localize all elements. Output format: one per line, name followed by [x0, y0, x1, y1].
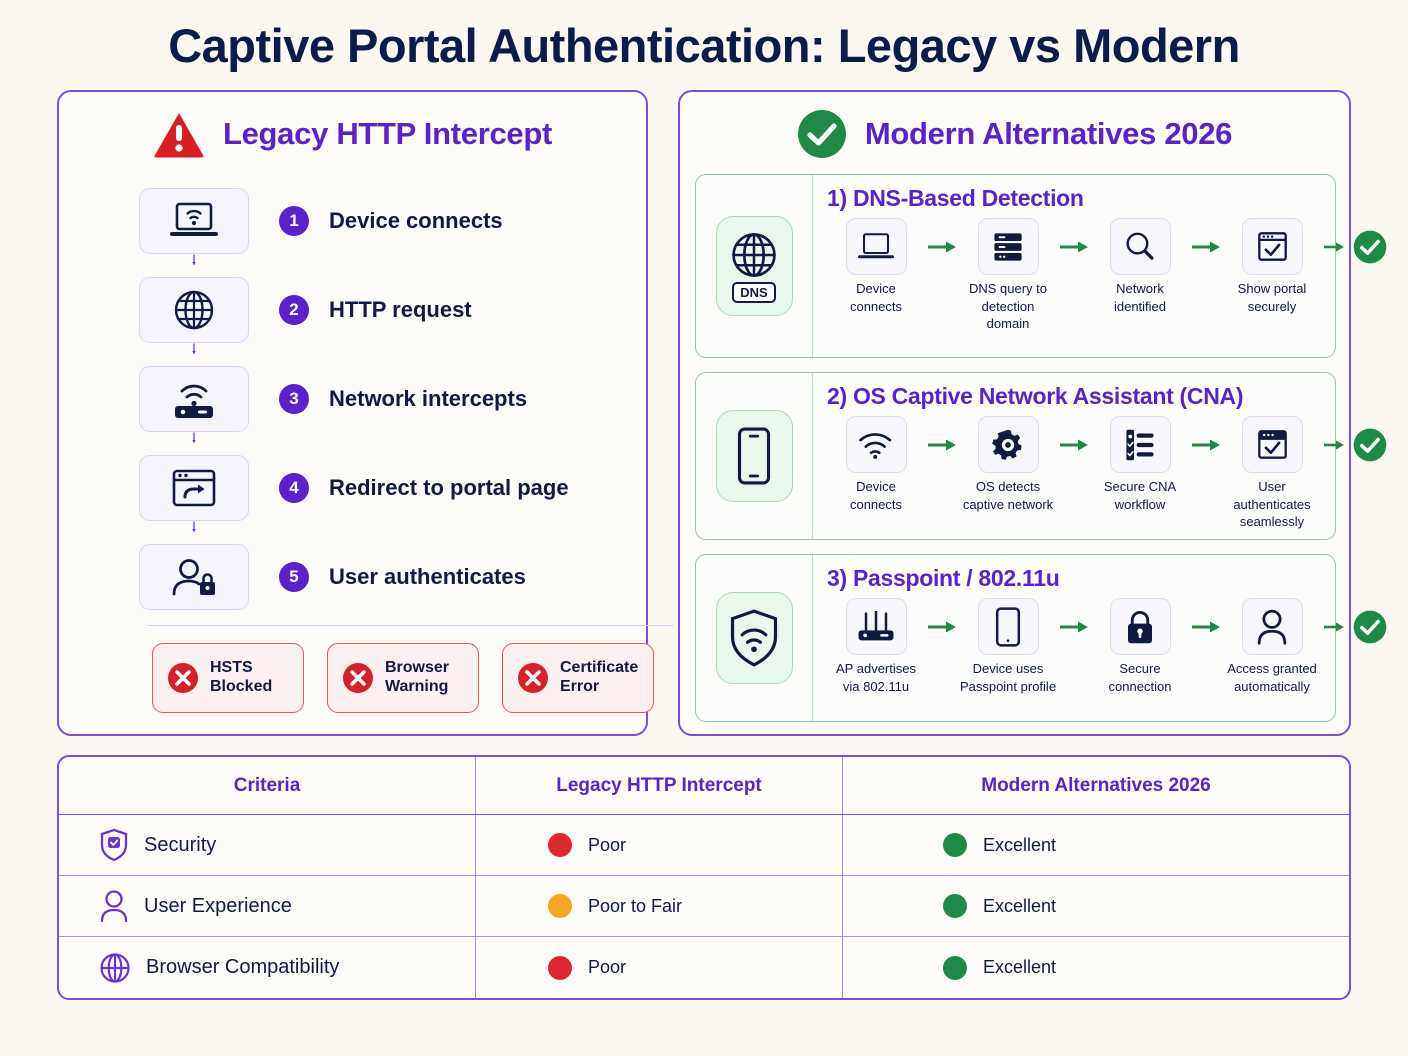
flow-icon-box: [978, 218, 1039, 275]
criteria-label: Browser Compatibility: [146, 956, 339, 979]
browser-check-icon: [1256, 428, 1289, 461]
flow-step: Device connects: [827, 416, 925, 513]
flow-icon-box: [846, 218, 907, 275]
flow-icon-box: [1242, 598, 1303, 655]
rating-cell: Poor to Fair: [476, 894, 682, 918]
flow-caption-line-2: workflow: [1091, 496, 1189, 514]
flow-arrow-right-icon: [925, 598, 959, 655]
globe-icon: [172, 288, 216, 332]
flow-icon-box: [1110, 218, 1171, 275]
column-header-label: Modern Alternatives 2026: [843, 775, 1349, 797]
flow-step: Show portal securely: [1223, 218, 1321, 315]
method-badge-area: [696, 555, 813, 721]
flow-arrow-right-icon: [1057, 598, 1091, 655]
flow-caption-line-1: DNS query to: [959, 280, 1057, 298]
flow-caption-line-2: captive network: [959, 496, 1057, 514]
flow-arrow-right-icon: [1189, 218, 1223, 275]
legacy-error-badges: HSTS Blocked Browser Warning: [152, 643, 654, 713]
table-header-cell-legacy: Legacy HTTP Intercept: [476, 757, 843, 814]
step-label: Redirect to portal page: [329, 475, 569, 501]
flow-step: AP advertises via 802.11u: [827, 598, 925, 695]
flow-caption-line-2: identified: [1091, 298, 1189, 316]
method-title: 1) DNS-Based Detection: [827, 185, 1393, 212]
flow-caption: Device uses Passpoint profile: [959, 660, 1057, 695]
table-cell-legacy: Poor: [476, 937, 843, 998]
method-flow: Device connects: [827, 218, 1393, 333]
table-row: User Experience Poor to Fair Excellent: [59, 876, 1349, 937]
check-circle-icon: [1353, 230, 1387, 264]
criteria-label: Security: [144, 834, 216, 857]
method-card-cna: 2) OS Captive Network Assistant (CNA): [695, 372, 1336, 540]
dns-tag-label: DNS: [732, 282, 775, 303]
method-body: 1) DNS-Based Detection Device connects: [813, 175, 1393, 357]
flow-caption-line-2: connection: [1091, 678, 1189, 696]
step-label: HTTP request: [329, 297, 472, 323]
router-wifi-icon: [169, 377, 219, 421]
step-icon-box: [139, 366, 249, 432]
status-dot: [943, 956, 967, 980]
flow-step: Device connects: [827, 218, 925, 315]
smartphone-icon: [995, 607, 1021, 647]
status-dot: [548, 833, 572, 857]
error-badge: Browser Warning: [327, 643, 479, 713]
method-badge: [716, 410, 793, 502]
flow-arrow-right-icon: [1057, 416, 1091, 473]
legacy-panel-header: Legacy HTTP Intercept: [59, 92, 646, 176]
method-badge-area: [696, 373, 813, 539]
flow-caption-line-2: seamlessly: [1223, 513, 1321, 531]
step-row: 3 Network intercepts: [59, 354, 650, 443]
flow-caption-line-2: connects: [827, 298, 925, 316]
method-card-dns: DNS 1) DNS-Based Detection Devi: [695, 174, 1336, 358]
criteria-cell: User Experience: [59, 889, 292, 923]
x-circle-icon: [342, 662, 374, 694]
flow-caption-line-1: AP advertises: [827, 660, 925, 678]
lock-icon: [1125, 609, 1155, 645]
rating-cell: Excellent: [843, 833, 1056, 857]
rating-label: Excellent: [983, 835, 1056, 856]
flow-icon-box: [1110, 416, 1171, 473]
flow-arrow-right-icon: [1189, 416, 1223, 473]
legacy-panel-title: Legacy HTTP Intercept: [223, 116, 552, 152]
table-cell-criteria: User Experience: [59, 876, 476, 936]
legacy-panel: Legacy HTTP Intercept 1 Device connects: [57, 90, 648, 736]
shield-wifi-icon: [729, 609, 779, 667]
x-circle-icon: [167, 662, 199, 694]
flow-caption-line-1: Secure CNA: [1091, 478, 1189, 496]
rating-label: Excellent: [983, 896, 1056, 917]
globe-icon: [99, 952, 131, 984]
flow-arrow-right-icon: [1321, 416, 1347, 473]
rating-cell: Excellent: [843, 894, 1056, 918]
status-dot: [943, 894, 967, 918]
criteria-label: User Experience: [144, 895, 292, 918]
flow-caption-line-1: Device: [827, 478, 925, 496]
error-line-2: Error: [560, 678, 638, 697]
step-number: 3: [279, 384, 309, 414]
flow-caption: Secure connection: [1091, 660, 1189, 695]
flow-arrow-right-icon: [1057, 218, 1091, 275]
flow-caption-line-2: via 802.11u: [827, 678, 925, 696]
table-header-cell-modern: Modern Alternatives 2026: [843, 757, 1349, 814]
flow-caption: OS detects captive network: [959, 478, 1057, 513]
modern-panel: Modern Alternatives 2026 DNS 1) DNS-Base…: [678, 90, 1351, 736]
table-cell-modern: Excellent: [843, 815, 1349, 875]
step-icon-box: [139, 277, 249, 343]
flow-end-check: [1347, 598, 1393, 655]
flow-step: Access granted automatically: [1223, 598, 1321, 695]
laptop-icon: [858, 232, 894, 262]
flow-caption-line-2: securely: [1223, 298, 1321, 316]
method-badge-area: DNS: [696, 175, 813, 357]
user-lock-icon: [169, 555, 219, 599]
flow-caption-line-1: Device: [827, 280, 925, 298]
status-dot: [548, 956, 572, 980]
error-badge-text: HSTS Blocked: [210, 659, 272, 697]
table-row: Browser Compatibility Poor Excellent: [59, 937, 1349, 998]
status-dot: [943, 833, 967, 857]
flow-icon-box: [978, 598, 1039, 655]
error-badge-text: Certificate Error: [560, 659, 638, 697]
flow-caption: Network identified: [1091, 280, 1189, 315]
criteria-cell: Security: [59, 828, 216, 862]
rating-cell: Excellent: [843, 956, 1056, 980]
check-circle-icon: [1353, 610, 1387, 644]
shield-check-icon: [99, 828, 129, 862]
x-circle-icon: [517, 662, 549, 694]
flow-caption-line-1: User authenticates: [1223, 478, 1321, 513]
error-line-1: Browser: [385, 659, 449, 678]
step-number: 2: [279, 295, 309, 325]
method-body: 3) Passpoint / 802.11u AP ad: [813, 555, 1393, 721]
step-icon-box: [139, 188, 249, 254]
flow-step: OS detects captive network: [959, 416, 1057, 513]
step-number: 1: [279, 206, 309, 236]
method-badge: DNS: [716, 216, 793, 316]
server-stack-icon: [991, 230, 1025, 264]
flow-caption: Device connects: [827, 478, 925, 513]
step-label: Device connects: [329, 208, 503, 234]
table-cell-legacy: Poor: [476, 815, 843, 875]
error-badge: Certificate Error: [502, 643, 654, 713]
flow-caption: User authenticates seamlessly: [1223, 478, 1321, 531]
gear-icon: [991, 428, 1025, 462]
laptop-wifi-icon: [169, 200, 219, 242]
flow-caption-line-1: Secure: [1091, 660, 1189, 678]
method-title: 3) Passpoint / 802.11u: [827, 565, 1393, 592]
flow-icon-box: [1242, 218, 1303, 275]
table-cell-criteria: Browser Compatibility: [59, 937, 476, 998]
method-body: 2) OS Captive Network Assistant (CNA): [813, 373, 1393, 539]
step-row: 2 HTTP request: [59, 265, 650, 354]
flow-arrow-right-icon: [1321, 598, 1347, 655]
step-icon-box: [139, 544, 249, 610]
column-header-label: Legacy HTTP Intercept: [476, 775, 842, 797]
flow-arrow-right-icon: [925, 218, 959, 275]
error-line-2: Blocked: [210, 678, 272, 697]
method-flow: AP advertises via 802.11u: [827, 598, 1393, 695]
modern-panel-header: Modern Alternatives 2026: [680, 92, 1349, 176]
wifi-icon: [858, 430, 894, 460]
flow-icon-box: [846, 598, 907, 655]
user-icon: [1256, 609, 1288, 645]
check-circle-icon: [797, 109, 847, 159]
flow-icon-box: [1110, 598, 1171, 655]
flow-arrow-right-icon: [1189, 598, 1223, 655]
flow-icon-box: [978, 416, 1039, 473]
flow-caption: DNS query to detection domain: [959, 280, 1057, 333]
table-header-row: Criteria Legacy HTTP Intercept Modern Al…: [59, 757, 1349, 815]
browser-redirect-icon: [170, 466, 218, 510]
flow-step: DNS query to detection domain: [959, 218, 1057, 333]
table-cell-legacy: Poor to Fair: [476, 876, 843, 936]
table-header-cell-criteria: Criteria: [59, 757, 476, 814]
criteria-cell: Browser Compatibility: [59, 952, 339, 984]
warning-triangle-icon: [153, 110, 205, 158]
browser-check-icon: [1256, 230, 1289, 263]
flow-caption-line-1: Show portal: [1223, 280, 1321, 298]
error-line-1: Certificate: [560, 659, 638, 678]
table-row: Security Poor Excellent: [59, 815, 1349, 876]
table-cell-modern: Excellent: [843, 937, 1349, 998]
modern-panel-title: Modern Alternatives 2026: [865, 116, 1232, 152]
flow-caption: Access granted automatically: [1223, 660, 1321, 695]
step-row: 1 Device connects: [59, 176, 650, 265]
magnifier-icon: [1123, 230, 1157, 264]
rating-label: Poor to Fair: [588, 896, 682, 917]
table-cell-modern: Excellent: [843, 876, 1349, 936]
flow-caption-line-2: automatically: [1223, 678, 1321, 696]
flow-caption-line-1: Device uses: [959, 660, 1057, 678]
flow-end-check: [1347, 416, 1393, 473]
flow-icon-box: [846, 416, 907, 473]
step-number: 5: [279, 562, 309, 592]
flow-caption: Device connects: [827, 280, 925, 315]
flow-end-check: [1347, 218, 1393, 275]
table-cell-criteria: Security: [59, 815, 476, 875]
flow-caption: AP advertises via 802.11u: [827, 660, 925, 695]
error-badge: HSTS Blocked: [152, 643, 304, 713]
flow-arrow-right-icon: [925, 416, 959, 473]
flow-caption-line-1: OS detects: [959, 478, 1057, 496]
flow-step: Device uses Passpoint profile: [959, 598, 1057, 695]
flow-step: Secure connection: [1091, 598, 1189, 695]
user-icon: [99, 889, 129, 923]
flow-step: Secure CNA workflow: [1091, 416, 1189, 513]
flow-caption-line-1: Access granted: [1223, 660, 1321, 678]
flow-caption-line-1: Network: [1091, 280, 1189, 298]
step-row: 4 Redirect to portal page: [59, 443, 650, 532]
rating-cell: Poor: [476, 833, 626, 857]
step-number: 4: [279, 473, 309, 503]
flow-step: User authenticates seamlessly: [1223, 416, 1321, 531]
rating-label: Poor: [588, 957, 626, 978]
error-badge-text: Browser Warning: [385, 659, 449, 697]
smartphone-icon: [736, 427, 772, 485]
error-line-1: HSTS: [210, 659, 272, 678]
step-icon-box: [139, 455, 249, 521]
flow-caption-line-2: Passpoint profile: [959, 678, 1057, 696]
method-badge: [716, 592, 793, 684]
step-label: User authenticates: [329, 564, 526, 590]
comparison-table: Criteria Legacy HTTP Intercept Modern Al…: [57, 755, 1351, 1000]
step-label: Network intercepts: [329, 386, 527, 412]
flow-caption: Secure CNA workflow: [1091, 478, 1189, 513]
router-antenna-icon: [856, 611, 896, 643]
check-circle-icon: [1353, 428, 1387, 462]
error-line-2: Warning: [385, 678, 449, 697]
column-header-label: Criteria: [59, 775, 475, 797]
rating-label: Poor: [588, 835, 626, 856]
status-dot: [548, 894, 572, 918]
section-divider: [147, 625, 674, 626]
method-title: 2) OS Captive Network Assistant (CNA): [827, 383, 1393, 410]
globe-dns-icon: [729, 230, 779, 280]
flow-icon-box: [1242, 416, 1303, 473]
legacy-steps-list: 1 Device connects 2 HT: [59, 176, 650, 621]
infographic-root: Captive Portal Authentication: Legacy vs…: [0, 0, 1408, 1056]
flow-step: Network identified: [1091, 218, 1189, 315]
rating-cell: Poor: [476, 956, 626, 980]
flow-caption-line-2: connects: [827, 496, 925, 514]
flow-arrow-right-icon: [1321, 218, 1347, 275]
method-card-passpoint: 3) Passpoint / 802.11u AP ad: [695, 554, 1336, 722]
flow-caption: Show portal securely: [1223, 280, 1321, 315]
step-row: 5 User authenticates: [59, 532, 650, 621]
flow-caption-line-2: detection domain: [959, 298, 1057, 333]
page-title: Captive Portal Authentication: Legacy vs…: [0, 18, 1408, 73]
rating-label: Excellent: [983, 957, 1056, 978]
method-flow: Device connects: [827, 416, 1393, 531]
checklist-icon: [1124, 428, 1156, 462]
